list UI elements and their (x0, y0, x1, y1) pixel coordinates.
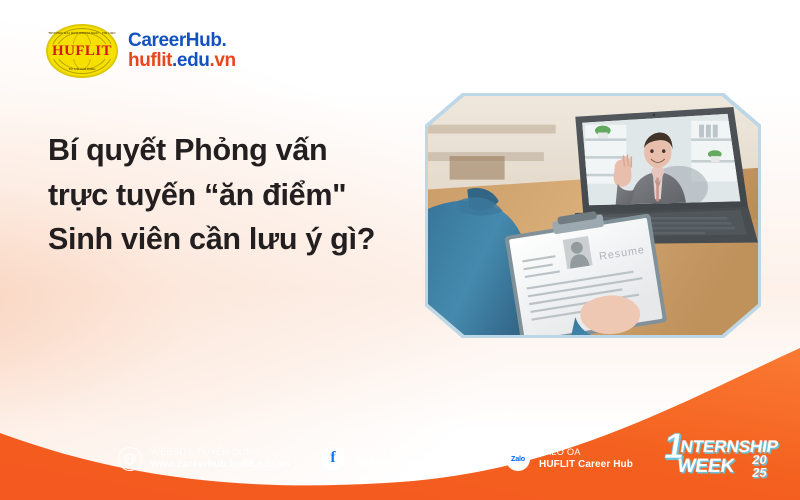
huflit-seal-icon: TRƯỜNG ĐẠI HỌC NGOẠI NGỮ - TIN HỌC HUFLI… (46, 24, 118, 78)
seal-word-text: HUFLIT (50, 44, 114, 59)
globe-icon (118, 447, 142, 471)
footer-item-zalo[interactable]: Zalo ZALO OA HUFLIT Career Hub (506, 446, 633, 471)
footer-zalo-value: HUFLIT Career Hub (539, 458, 633, 471)
facebook-glyph: f (330, 450, 335, 466)
badge-year-bottom: 25 (751, 465, 768, 480)
brand-logo-group[interactable]: TRƯỜNG ĐẠI HỌC NGOẠI NGỮ - TIN HỌC HUFLI… (46, 24, 236, 78)
footer-facebook-value: @HUFLITCareerHub (354, 458, 488, 471)
brand-wordmark: CareerHub. huflit.edu.vn (128, 31, 236, 71)
brand-line-domain: huflit.edu.vn (128, 51, 236, 71)
poster-canvas: TRƯỜNG ĐẠI HỌC NGOẠI NGỮ - TIN HỌC HUFLI… (0, 0, 800, 500)
footer-website-title: WEBSITE TUYỂN DỤNG (151, 446, 290, 458)
domain-part-vn: .vn (210, 50, 236, 71)
seal-arc-top-text: TRƯỜNG ĐẠI HỌC NGOẠI NGỮ - TIN HỌC (47, 31, 117, 35)
internship-week-badge: 1 NTERNSHIP WEEK 20 25 (652, 424, 786, 486)
headline-line-3: Sinh viên cần lưu ý gì? (48, 217, 448, 262)
badge-word-bottom: WEEK (676, 455, 737, 477)
headline-line-1: Bí quyết Phỏng vấn (48, 128, 448, 173)
headline-block: Bí quyết Phỏng vấn trực tuyến “ăn điểm" … (48, 128, 448, 262)
brand-line-careerhub: CareerHub. (128, 31, 236, 51)
footer-item-website[interactable]: WEBSITE TUYỂN DỤNG www.careerhub.huflit.… (118, 446, 290, 471)
facebook-icon: f (321, 447, 345, 471)
headline-line-2: trực tuyến “ăn điểm" (48, 173, 448, 218)
domain-part-huflit: huflit (128, 50, 172, 71)
zalo-glyph: Zalo (511, 455, 525, 462)
footer-facebook-title: HUFLIT - Thực tập và Việc làm (354, 446, 488, 458)
hero-photo-illustration: Resume (428, 96, 758, 335)
domain-part-edu: .edu (172, 50, 209, 71)
zalo-icon: Zalo (506, 447, 530, 471)
hero-image-frame: Resume (425, 93, 761, 338)
footer-item-facebook[interactable]: f HUFLIT - Thực tập và Việc làm @HUFLITC… (321, 446, 488, 471)
footer-zalo-title: ZALO OA (539, 446, 633, 458)
footer-website-value: www.careerhub.huflit.edu.vn (151, 458, 290, 471)
seal-arc-bottom-text: TP. HỒ CHÍ MINH (47, 67, 117, 71)
